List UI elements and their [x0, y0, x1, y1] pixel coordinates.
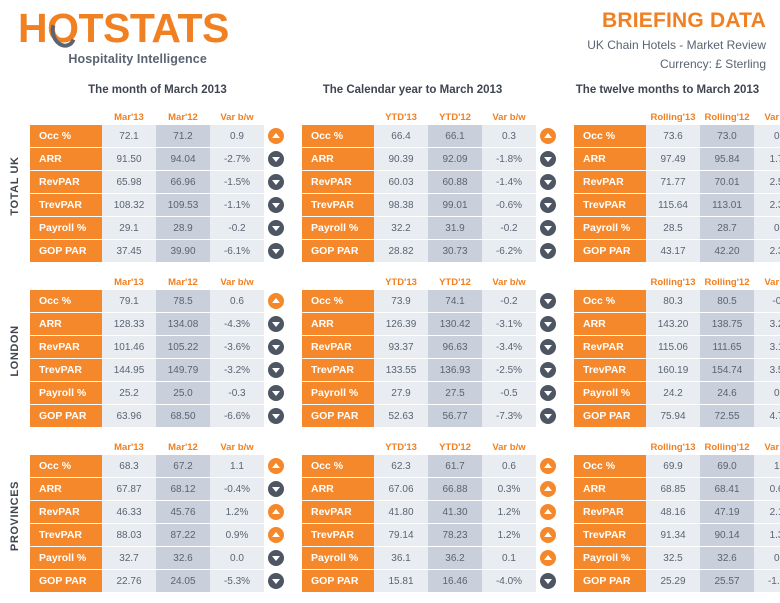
arrow-glyph — [272, 509, 280, 514]
table-row: Payroll %29.128.9-0.2 — [30, 217, 288, 239]
value-variance: 0.3 — [482, 125, 536, 147]
value-previous: 94.04 — [156, 148, 210, 170]
value-previous: 105.22 — [156, 336, 210, 358]
band-tables: Mar'13Mar'12Var b/wOcc %68.367.21.1ARR67… — [30, 438, 780, 593]
arrow-glyph — [544, 391, 552, 396]
value-current: 115.06 — [646, 336, 700, 358]
metric-label: GOP PAR — [574, 570, 646, 592]
value-current: 143.20 — [646, 313, 700, 335]
value-current: 101.46 — [102, 336, 156, 358]
value-variance: -1.1% — [210, 194, 264, 216]
arrow-glyph — [272, 487, 280, 492]
column-header: Mar'13 — [102, 277, 156, 290]
value-current: 32.2 — [374, 217, 428, 239]
value-variance: 2.3% — [754, 194, 780, 216]
value-previous: 87.22 — [156, 524, 210, 546]
column-header: Mar'12 — [156, 442, 210, 455]
value-current: 91.50 — [102, 148, 156, 170]
table-row: TrevPAR160.19154.743.5% — [574, 359, 780, 381]
value-current: 62.3 — [374, 455, 428, 477]
value-variance: 1.1 — [210, 455, 264, 477]
column-header: Var b/w — [210, 277, 264, 290]
table-row: GOP PAR15.8116.46-4.0% — [302, 570, 560, 592]
metric-label: Payroll % — [30, 217, 102, 239]
variance-indicator-cell — [264, 524, 288, 546]
region-label: LONDON — [0, 273, 30, 428]
value-variance: 4.7% — [754, 405, 780, 427]
column-header: Var b/w — [754, 442, 780, 455]
value-current: 98.38 — [374, 194, 428, 216]
variance-indicator-cell — [536, 547, 560, 569]
arrow-up-icon — [540, 458, 556, 474]
value-current: 65.98 — [102, 171, 156, 193]
value-current: 88.03 — [102, 524, 156, 546]
arrow-glyph — [544, 345, 552, 350]
arrow-up-icon — [540, 481, 556, 497]
value-variance: -3.1% — [482, 313, 536, 335]
table-row: RevPAR65.9866.96-1.5% — [30, 171, 288, 193]
value-variance: -0.4% — [210, 478, 264, 500]
column-header: Mar'12 — [156, 112, 210, 125]
value-current: 144.95 — [102, 359, 156, 381]
column-header: Var b/w — [210, 442, 264, 455]
arrow-down-icon — [540, 151, 556, 167]
arrow-glyph — [272, 133, 280, 138]
value-previous: 60.88 — [428, 171, 482, 193]
page-title: BRIEFING DATA — [587, 9, 766, 33]
column-header: Mar'13 — [102, 442, 156, 455]
value-variance: -3.4% — [482, 336, 536, 358]
table-row: RevPAR101.46105.22-3.6% — [30, 336, 288, 358]
metric-label: Occ % — [30, 125, 102, 147]
metric-label: RevPAR — [574, 171, 646, 193]
value-current: 93.37 — [374, 336, 428, 358]
value-previous: 36.2 — [428, 547, 482, 569]
band-tables: Mar'13Mar'12Var b/wOcc %79.178.50.6ARR12… — [30, 273, 780, 428]
value-current: 97.49 — [646, 148, 700, 170]
value-previous: 66.1 — [428, 125, 482, 147]
metric-label: TrevPAR — [30, 359, 102, 381]
arrow-down-icon — [540, 243, 556, 259]
variance-indicator-cell — [264, 547, 288, 569]
table-row: TrevPAR115.64113.012.3% — [574, 194, 780, 216]
table-row: GOP PAR75.9472.554.7% — [574, 405, 780, 427]
arrow-glyph — [544, 249, 552, 254]
metric-label: Occ % — [574, 290, 646, 312]
value-current: 68.3 — [102, 455, 156, 477]
value-variance: -0.1 — [754, 290, 780, 312]
metric-label: ARR — [302, 478, 374, 500]
region-band: TOTAL UKMar'13Mar'12Var b/wOcc %72.171.2… — [0, 108, 780, 263]
arrow-glyph — [272, 463, 280, 468]
value-variance: 0.0 — [754, 547, 780, 569]
variance-indicator-cell — [536, 125, 560, 147]
value-previous: 80.5 — [700, 290, 754, 312]
metric-label: TrevPAR — [302, 524, 374, 546]
column-header: YTD'13 — [374, 112, 428, 125]
arrow-down-icon — [268, 573, 284, 589]
value-variance: -3.2% — [210, 359, 264, 381]
value-current: 52.63 — [374, 405, 428, 427]
metric-label: Payroll % — [30, 547, 102, 569]
metric-label: ARR — [574, 148, 646, 170]
region-label: PROVINCES — [0, 438, 30, 593]
currency-label: Currency: £ Sterling — [587, 57, 766, 72]
metric-label: GOP PAR — [302, 570, 374, 592]
value-previous: 32.6 — [700, 547, 754, 569]
value-previous: 136.93 — [428, 359, 482, 381]
metrics-table: Mar'13Mar'12Var b/wOcc %72.171.20.9ARR91… — [30, 108, 288, 263]
table-row: Occ %72.171.20.9 — [30, 125, 288, 147]
arrow-glyph — [272, 249, 280, 254]
arrow-down-icon — [268, 220, 284, 236]
value-current: 22.76 — [102, 570, 156, 592]
table-row: Payroll %32.231.9-0.2 — [302, 217, 560, 239]
arrow-down-icon — [540, 316, 556, 332]
metric-label: GOP PAR — [574, 240, 646, 262]
arrow-glyph — [272, 414, 280, 419]
variance-indicator-cell — [264, 382, 288, 404]
variance-indicator-cell — [536, 171, 560, 193]
value-previous: 113.01 — [700, 194, 754, 216]
table-row: ARR91.5094.04-2.7% — [30, 148, 288, 170]
value-previous: 72.55 — [700, 405, 754, 427]
value-variance: -1.8% — [482, 148, 536, 170]
value-variance: 0.9 — [210, 125, 264, 147]
value-previous: 74.1 — [428, 290, 482, 312]
table-row: GOP PAR28.8230.73-6.2% — [302, 240, 560, 262]
logo-wordmark: HOTSTATS — [18, 6, 229, 50]
arrow-glyph — [544, 555, 552, 560]
metric-label: TrevPAR — [302, 359, 374, 381]
value-variance: -4.3% — [210, 313, 264, 335]
header-right-block: BRIEFING DATA UK Chain Hotels - Market R… — [587, 9, 766, 72]
value-current: 36.1 — [374, 547, 428, 569]
variance-indicator-cell — [536, 336, 560, 358]
value-previous: 71.2 — [156, 125, 210, 147]
arrow-glyph — [544, 486, 552, 491]
table-header-row: Mar'13Mar'12Var b/w — [30, 108, 288, 125]
page-subtitle: UK Chain Hotels - Market Review — [587, 38, 766, 53]
table-row: GOP PAR37.4539.90-6.1% — [30, 240, 288, 262]
value-previous: 28.9 — [156, 217, 210, 239]
value-variance: -6.6% — [210, 405, 264, 427]
column-header: YTD'13 — [374, 442, 428, 455]
arrow-up-icon — [268, 293, 284, 309]
value-variance: 0.3% — [482, 478, 536, 500]
value-variance: -3.6% — [210, 336, 264, 358]
column-title-calendar-year: The Calendar year to March 2013 — [285, 84, 540, 108]
variance-indicator-cell — [536, 217, 560, 239]
metric-label: Occ % — [302, 455, 374, 477]
arrow-glyph — [544, 463, 552, 468]
value-previous: 109.53 — [156, 194, 210, 216]
table-row: Payroll %25.225.0-0.3 — [30, 382, 288, 404]
value-variance: -4.0% — [482, 570, 536, 592]
table-row: Payroll %28.528.70.2 — [574, 217, 780, 239]
variance-indicator-cell — [536, 382, 560, 404]
region-label-text: PROVINCES — [9, 480, 21, 550]
value-variance: 0.0 — [210, 547, 264, 569]
metric-label: ARR — [30, 148, 102, 170]
metrics-table: Rolling'13Rolling'12Var b/wOcc %80.380.5… — [574, 273, 780, 428]
arrow-down-icon — [268, 408, 284, 424]
metric-label: RevPAR — [302, 336, 374, 358]
value-current: 32.5 — [646, 547, 700, 569]
value-variance: -2.5% — [482, 359, 536, 381]
arrow-glyph — [544, 157, 552, 162]
metric-label: ARR — [302, 148, 374, 170]
variance-indicator-cell — [264, 405, 288, 427]
value-variance: 0.6 — [754, 125, 780, 147]
column-header: Rolling'12 — [700, 442, 754, 455]
metric-label: TrevPAR — [574, 194, 646, 216]
value-variance: 0.9% — [210, 524, 264, 546]
value-previous: 31.9 — [428, 217, 482, 239]
variance-indicator-cell — [536, 148, 560, 170]
value-previous: 99.01 — [428, 194, 482, 216]
value-variance: -5.3% — [210, 570, 264, 592]
metric-label: GOP PAR — [302, 240, 374, 262]
arrow-down-icon — [268, 316, 284, 332]
table-row: TrevPAR79.1478.231.2% — [302, 524, 560, 546]
table-row: Payroll %32.532.60.0 — [574, 547, 780, 569]
table-header-row: YTD'13YTD'12Var b/w — [302, 108, 560, 125]
value-previous: 39.90 — [156, 240, 210, 262]
value-previous: 95.84 — [700, 148, 754, 170]
value-current: 69.9 — [646, 455, 700, 477]
region-band: LONDONMar'13Mar'12Var b/wOcc %79.178.50.… — [0, 273, 780, 428]
arrow-glyph — [544, 322, 552, 327]
table-row: TrevPAR133.55136.93-2.5% — [302, 359, 560, 381]
table-row: GOP PAR52.6356.77-7.3% — [302, 405, 560, 427]
table-header-row: Rolling'13Rolling'12Var b/w — [574, 438, 780, 455]
table-header-row: Rolling'13Rolling'12Var b/w — [574, 273, 780, 290]
arrow-down-icon — [540, 408, 556, 424]
arrow-down-icon — [268, 197, 284, 213]
value-current: 25.2 — [102, 382, 156, 404]
value-variance: 1.3% — [754, 524, 780, 546]
arrow-glyph — [544, 509, 552, 514]
metric-label: GOP PAR — [30, 405, 102, 427]
table-header-row: Rolling'13Rolling'12Var b/w — [574, 108, 780, 125]
band-tables: Mar'13Mar'12Var b/wOcc %72.171.20.9ARR91… — [30, 108, 780, 263]
logo-letter-o: O — [47, 6, 78, 50]
value-current: 80.3 — [646, 290, 700, 312]
value-previous: 66.96 — [156, 171, 210, 193]
value-current: 133.55 — [374, 359, 428, 381]
arrow-down-icon — [268, 385, 284, 401]
logo-text-rest: TSTATS — [79, 5, 229, 51]
metric-label: ARR — [30, 313, 102, 335]
arrow-glyph — [272, 180, 280, 185]
value-variance: 0.6 — [210, 290, 264, 312]
value-current: 71.77 — [646, 171, 700, 193]
value-previous: 78.5 — [156, 290, 210, 312]
table-row: RevPAR60.0360.88-1.4% — [302, 171, 560, 193]
table-row: Occ %73.673.00.6 — [574, 125, 780, 147]
table-row: Occ %69.969.01.0 — [574, 455, 780, 477]
metric-label: Occ % — [302, 125, 374, 147]
value-previous: 16.46 — [428, 570, 482, 592]
page-header: HOTSTATS Hospitality Intelligence BRIEFI… — [0, 0, 780, 82]
column-header: Rolling'13 — [646, 112, 700, 125]
column-header: Var b/w — [482, 442, 536, 455]
table-header-row: Mar'13Mar'12Var b/w — [30, 438, 288, 455]
value-current: 28.82 — [374, 240, 428, 262]
variance-indicator-cell — [264, 313, 288, 335]
variance-indicator-cell — [264, 217, 288, 239]
arrow-down-icon — [268, 151, 284, 167]
region-label-text: TOTAL UK — [9, 156, 21, 215]
table-row: GOP PAR22.7624.05-5.3% — [30, 570, 288, 592]
value-previous: 154.74 — [700, 359, 754, 381]
arrow-glyph — [544, 180, 552, 185]
column-header: YTD'13 — [374, 277, 428, 290]
value-previous: 69.0 — [700, 455, 754, 477]
value-variance: -7.3% — [482, 405, 536, 427]
value-current: 66.4 — [374, 125, 428, 147]
value-previous: 32.6 — [156, 547, 210, 569]
value-variance: -0.2 — [210, 217, 264, 239]
column-header: Var b/w — [482, 112, 536, 125]
value-variance: 1.0 — [754, 455, 780, 477]
table-row: Payroll %32.732.60.0 — [30, 547, 288, 569]
value-current: 15.81 — [374, 570, 428, 592]
column-header: Rolling'13 — [646, 277, 700, 290]
column-title-twelve-months: The twelve months to March 2013 — [540, 84, 780, 108]
column-title-month: The month of March 2013 — [30, 84, 285, 108]
value-variance: 1.7% — [754, 148, 780, 170]
variance-indicator-cell — [536, 240, 560, 262]
value-variance: 2.5% — [754, 171, 780, 193]
table-row: GOP PAR63.9668.50-6.6% — [30, 405, 288, 427]
metrics-table: YTD'13YTD'12Var b/wOcc %62.361.70.6ARR67… — [302, 438, 560, 593]
arrow-up-icon — [540, 527, 556, 543]
value-current: 63.96 — [102, 405, 156, 427]
column-header: YTD'12 — [428, 277, 482, 290]
metrics-table: YTD'13YTD'12Var b/wOcc %73.974.1-0.2ARR1… — [302, 273, 560, 428]
logo-tagline: Hospitality Intelligence — [18, 52, 229, 66]
metrics-table: Mar'13Mar'12Var b/wOcc %79.178.50.6ARR12… — [30, 273, 288, 428]
value-variance: 0.1 — [482, 547, 536, 569]
variance-indicator-cell — [264, 125, 288, 147]
hotstats-logo: HOTSTATS Hospitality Intelligence — [18, 6, 229, 66]
value-previous: 24.05 — [156, 570, 210, 592]
table-row: ARR67.8768.12-0.4% — [30, 478, 288, 500]
arrow-down-icon — [268, 362, 284, 378]
value-previous: 96.63 — [428, 336, 482, 358]
value-current: 29.1 — [102, 217, 156, 239]
value-current: 73.6 — [646, 125, 700, 147]
value-current: 160.19 — [646, 359, 700, 381]
value-variance: -6.2% — [482, 240, 536, 262]
variance-indicator-cell — [536, 455, 560, 477]
metric-label: Payroll % — [302, 382, 374, 404]
value-current: 27.9 — [374, 382, 428, 404]
value-previous: 42.20 — [700, 240, 754, 262]
arrow-glyph — [272, 203, 280, 208]
column-header: Var b/w — [482, 277, 536, 290]
metrics-table: YTD'13YTD'12Var b/wOcc %66.466.10.3ARR90… — [302, 108, 560, 263]
arrow-glyph — [544, 203, 552, 208]
value-variance: 0.6 — [482, 455, 536, 477]
arrow-glyph — [272, 579, 280, 584]
arrow-glyph — [272, 298, 280, 303]
metric-label: Payroll % — [302, 547, 374, 569]
arrow-glyph — [272, 532, 280, 537]
metric-label: GOP PAR — [30, 570, 102, 592]
briefing-data-page: HOTSTATS Hospitality Intelligence BRIEFI… — [0, 0, 780, 520]
column-header: Var b/w — [754, 112, 780, 125]
value-current: 115.64 — [646, 194, 700, 216]
value-current: 37.45 — [102, 240, 156, 262]
arrow-down-icon — [268, 243, 284, 259]
arrow-down-icon — [540, 362, 556, 378]
column-header: Rolling'12 — [700, 112, 754, 125]
table-row: Occ %68.367.21.1 — [30, 455, 288, 477]
value-current: 67.06 — [374, 478, 428, 500]
table-row: ARR97.4995.841.7% — [574, 148, 780, 170]
value-variance: -0.6% — [482, 194, 536, 216]
variance-indicator-cell — [264, 290, 288, 312]
value-variance: 1.2% — [482, 524, 536, 546]
table-row: Payroll %24.224.60.3 — [574, 382, 780, 404]
value-variance: -1.1% — [754, 570, 780, 592]
metric-label: Payroll % — [30, 382, 102, 404]
value-variance: 2.3% — [754, 240, 780, 262]
value-previous: 68.50 — [156, 405, 210, 427]
value-previous: 25.0 — [156, 382, 210, 404]
value-variance: 3.5% — [754, 359, 780, 381]
variance-indicator-cell — [536, 290, 560, 312]
metric-label: GOP PAR — [30, 240, 102, 262]
table-row: TrevPAR91.3490.141.3% — [574, 524, 780, 546]
arrow-glyph — [272, 556, 280, 561]
arrow-down-icon — [540, 197, 556, 213]
table-row: TrevPAR98.3899.01-0.6% — [302, 194, 560, 216]
value-previous: 68.41 — [700, 478, 754, 500]
value-current: 90.39 — [374, 148, 428, 170]
table-row: GOP PAR25.2925.57-1.1% — [574, 570, 780, 592]
metric-label: TrevPAR — [574, 524, 646, 546]
arrow-glyph — [544, 414, 552, 419]
arrow-down-icon — [268, 174, 284, 190]
arrow-up-icon — [540, 128, 556, 144]
metric-label: RevPAR — [30, 171, 102, 193]
value-current: 79.14 — [374, 524, 428, 546]
arrow-down-icon — [540, 220, 556, 236]
arrow-up-icon — [268, 458, 284, 474]
variance-indicator-cell — [264, 570, 288, 592]
value-variance: -0.3 — [210, 382, 264, 404]
column-header: Var b/w — [210, 112, 264, 125]
variance-indicator-cell — [264, 359, 288, 381]
value-variance: 3.1% — [754, 336, 780, 358]
column-header: Rolling'12 — [700, 277, 754, 290]
variance-indicator-cell — [264, 455, 288, 477]
arrow-glyph — [272, 322, 280, 327]
value-previous: 134.08 — [156, 313, 210, 335]
metric-label: RevPAR — [574, 336, 646, 358]
metric-label: Payroll % — [574, 547, 646, 569]
metric-label: GOP PAR — [302, 405, 374, 427]
arrow-glyph — [544, 133, 552, 138]
variance-indicator-cell — [536, 524, 560, 546]
table-row: Occ %66.466.10.3 — [302, 125, 560, 147]
table-row: ARR90.3992.09-1.8% — [302, 148, 560, 170]
variance-indicator-cell — [264, 171, 288, 193]
